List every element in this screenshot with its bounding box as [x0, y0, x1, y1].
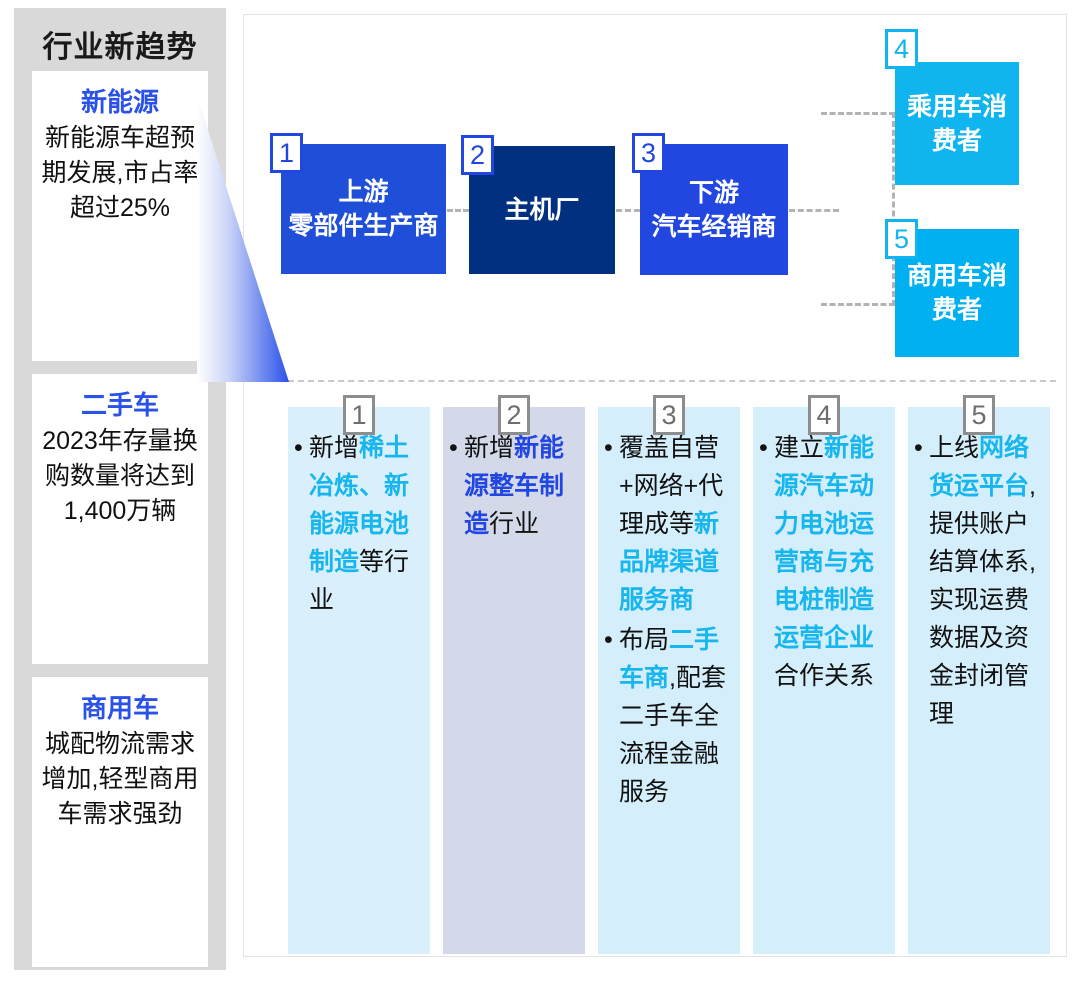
- slide-root: 行业新趋势 新能源 新能源车超预期发展,市占率超过25% 二手车 2023年存量…: [0, 0, 1080, 984]
- detail-card-2[interactable]: 2 •新增新能源整车制造行业: [443, 407, 585, 954]
- flow-node-label: 下游汽车经销商: [651, 176, 776, 244]
- flow-bracket: [821, 112, 895, 306]
- bullet-dot-icon: •: [294, 429, 309, 467]
- detail-card-3[interactable]: 3 •覆盖自营+网络+代理成等新品牌渠道服务商•布局二手车商,配套二手车全流程金…: [598, 407, 740, 954]
- sidebar-card-title: 新能源: [81, 85, 159, 119]
- flow-badge-2: 2: [461, 135, 494, 175]
- bullet-dot-icon: •: [604, 429, 619, 467]
- bullet-text: 布局二手车商,配套二手车全流程金融服务: [619, 621, 732, 811]
- detail-card-badge-5: 5: [963, 395, 995, 435]
- bullet-text: 覆盖自营+网络+代理成等新品牌渠道服务商: [619, 429, 732, 619]
- detail-card-5[interactable]: 5 •上线网络货运平台,提供账户结算体系,实现运费数据及资金封闭管理: [908, 407, 1050, 954]
- detail-card-content: •上线网络货运平台,提供账户结算体系,实现运费数据及资金封闭管理: [914, 429, 1042, 733]
- bullet-item: •覆盖自营+网络+代理成等新品牌渠道服务商: [604, 429, 732, 619]
- bullet-item: •上线网络货运平台,提供账户结算体系,实现运费数据及资金封闭管理: [914, 429, 1042, 733]
- sidebar-card-title: 商用车: [81, 691, 159, 725]
- detail-card-badge-2: 2: [498, 395, 530, 435]
- detail-card-content: •新增新能源整车制造行业: [449, 429, 577, 543]
- sidebar-card-new-energy[interactable]: 新能源 新能源车超预期发展,市占率超过25%: [32, 71, 208, 361]
- sidebar-card-commercial-vehicle[interactable]: 商用车 城配物流需求增加,轻型商用车需求强劲: [32, 677, 208, 967]
- flow-badge-4: 4: [885, 29, 918, 69]
- bullet-dot-icon: •: [449, 429, 464, 467]
- sidebar-card-body: 城配物流需求增加,轻型商用车需求强劲: [32, 727, 208, 832]
- sidebar-card-used-car[interactable]: 二手车 2023年存量换购数量将达到1,400万辆: [32, 374, 208, 664]
- flow-badge-3: 3: [632, 133, 665, 173]
- bullet-item: •建立新能源汽车动力电池运营商与充电桩制造运营企业合作关系: [759, 429, 887, 695]
- bullet-text: 新增稀土冶炼、新能源电池制造等行业: [309, 429, 422, 619]
- detail-card-badge-4: 4: [808, 395, 840, 435]
- bullet-text: 建立新能源汽车动力电池运营商与充电桩制造运营企业合作关系: [774, 429, 887, 695]
- sidebar-card-title: 二手车: [81, 388, 159, 422]
- bullet-dot-icon: •: [759, 429, 774, 467]
- section-divider: [278, 380, 1056, 382]
- detail-card-content: •新增稀土冶炼、新能源电池制造等行业: [294, 429, 422, 619]
- flow-node-label: 主机厂: [504, 193, 579, 227]
- pointer-wedge-icon: [197, 96, 289, 382]
- bullet-dot-icon: •: [914, 429, 929, 467]
- bullet-text: 上线网络货运平台,提供账户结算体系,实现运费数据及资金封闭管理: [929, 429, 1042, 733]
- sidebar-title: 行业新趋势: [14, 22, 226, 66]
- detail-card-1[interactable]: 1 •新增稀土冶炼、新能源电池制造等行业: [288, 407, 430, 954]
- detail-card-badge-3: 3: [653, 395, 685, 435]
- flow-connector-2-3: [616, 209, 640, 212]
- detail-card-content: •建立新能源汽车动力电池运营商与充电桩制造运营企业合作关系: [759, 429, 887, 695]
- flow-node-label: 乘用车消费者: [895, 90, 1019, 158]
- bullet-text: 新增新能源整车制造行业: [464, 429, 577, 543]
- sidebar-card-body: 2023年存量换购数量将达到1,400万辆: [32, 424, 208, 529]
- detail-card-4[interactable]: 4 •建立新能源汽车动力电池运营商与充电桩制造运营企业合作关系: [753, 407, 895, 954]
- bullet-item: •布局二手车商,配套二手车全流程金融服务: [604, 621, 732, 811]
- bullet-item: •新增新能源整车制造行业: [449, 429, 577, 543]
- flow-node-label: 上游零部件生产商: [288, 175, 438, 243]
- bullet-dot-icon: •: [604, 621, 619, 659]
- flow-connector-1-2: [447, 209, 469, 212]
- sidebar: 行业新趋势 新能源 新能源车超预期发展,市占率超过25% 二手车 2023年存量…: [14, 8, 226, 970]
- detail-card-content: •覆盖自营+网络+代理成等新品牌渠道服务商•布局二手车商,配套二手车全流程金融服…: [604, 429, 732, 811]
- flow-badge-5: 5: [885, 219, 918, 259]
- flow-node-label: 商用车消费者: [895, 259, 1019, 327]
- bullet-item: •新增稀土冶炼、新能源电池制造等行业: [294, 429, 422, 619]
- flow-node-upstream-parts[interactable]: 上游零部件生产商: [281, 144, 446, 274]
- flow-node-passenger-consumer[interactable]: 乘用车消费者: [895, 62, 1019, 185]
- sidebar-card-body: 新能源车超预期发展,市占率超过25%: [32, 121, 208, 226]
- detail-card-badge-1: 1: [343, 395, 375, 435]
